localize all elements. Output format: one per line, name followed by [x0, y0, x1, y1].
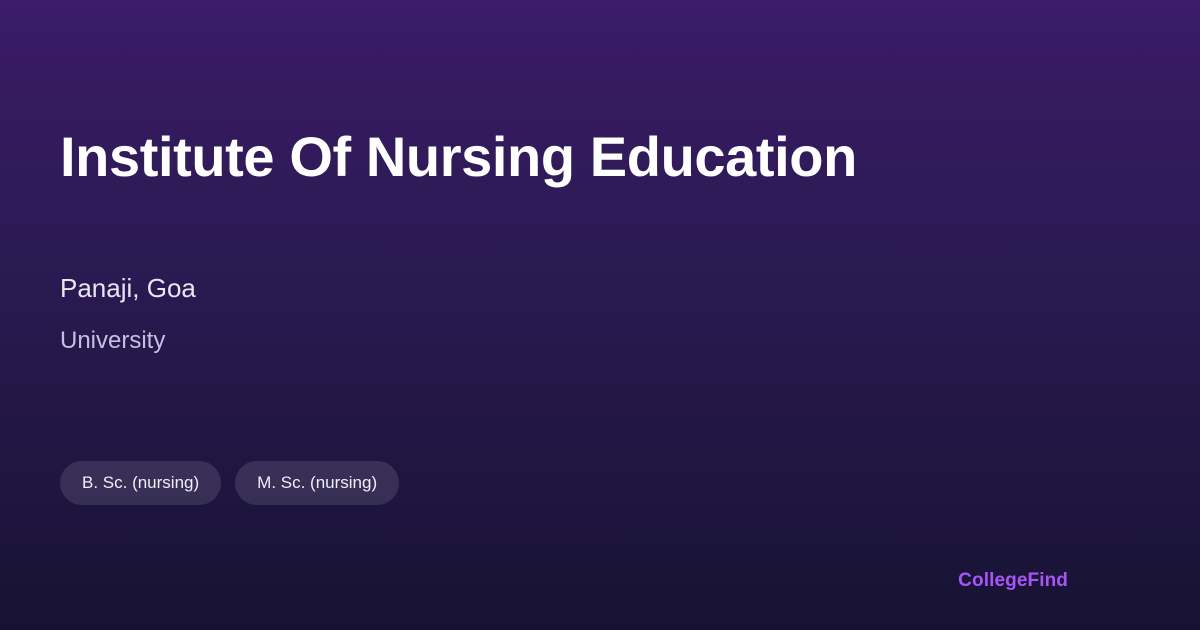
brand-logo[interactable]: CollegeFind	[958, 570, 1068, 592]
course-tag-list: B. Sc. (nursing) M. Sc. (nursing)	[60, 461, 399, 505]
institute-type: University	[60, 325, 165, 356]
og-preview-card: Institute Of Nursing Education Panaji, G…	[0, 0, 1200, 630]
course-tag[interactable]: M. Sc. (nursing)	[235, 461, 399, 505]
page-title: Institute Of Nursing Education	[60, 126, 857, 189]
course-tag[interactable]: B. Sc. (nursing)	[60, 461, 221, 505]
institute-location: Panaji, Goa	[60, 272, 196, 306]
